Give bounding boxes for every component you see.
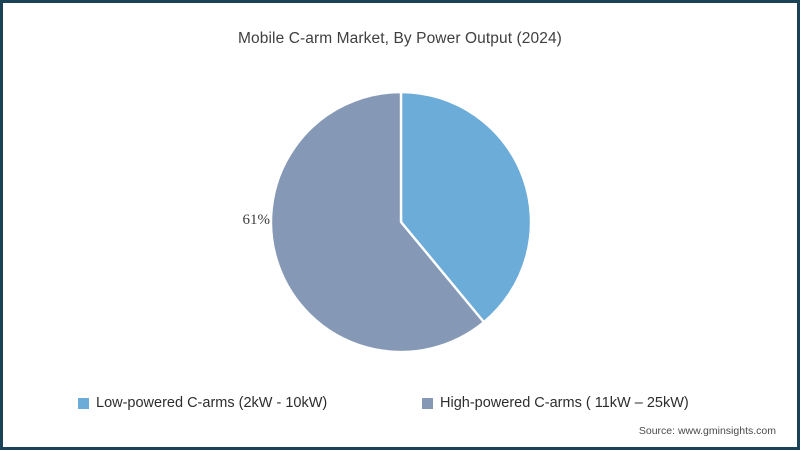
pie-data-label-high-powered: 61% [206, 212, 270, 229]
legend-label-high-powered: High-powered C-arms ( 11kW – 25kW) [440, 396, 689, 411]
legend-swatch-icon-low-powered [78, 398, 89, 409]
chart-legend: Low-powered C-arms (2kW - 10kW) High-pow… [0, 392, 800, 414]
source-attribution: Source: www.gminsights.com [639, 425, 776, 437]
chart-figure: Mobile C-arm Market, By Power Output (20… [0, 0, 800, 450]
legend-item-high-powered[interactable]: High-powered C-arms ( 11kW – 25kW) [422, 392, 689, 414]
pie-chart-svg [270, 91, 532, 353]
legend-swatch-icon-high-powered [422, 398, 433, 409]
chart-title: Mobile C-arm Market, By Power Output (20… [0, 30, 800, 48]
legend-label-low-powered: Low-powered C-arms (2kW - 10kW) [96, 396, 327, 411]
legend-item-low-powered[interactable]: Low-powered C-arms (2kW - 10kW) [78, 392, 327, 414]
pie-chart [270, 91, 532, 353]
